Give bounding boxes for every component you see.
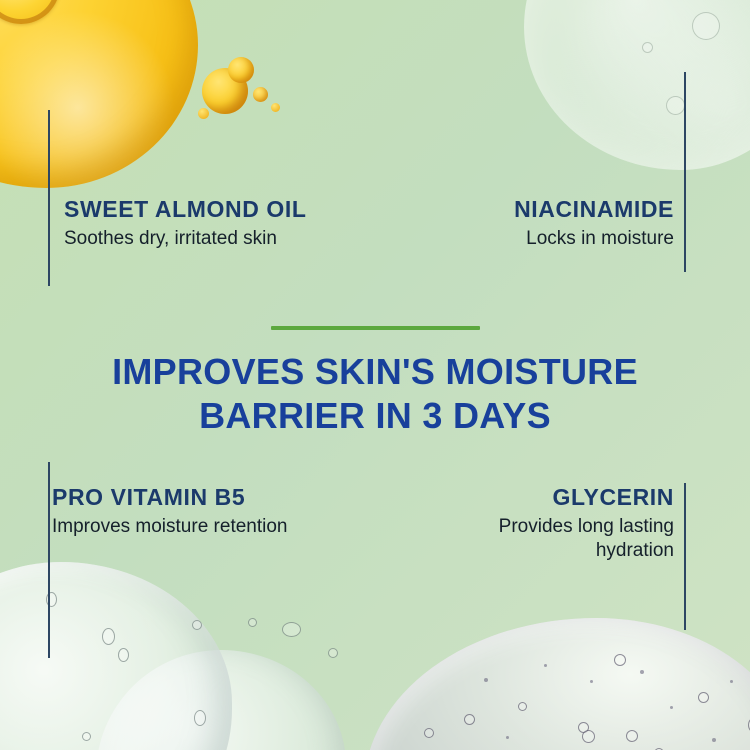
clear-gel-blob-secondary (96, 650, 346, 750)
oil-bubble (0, 0, 60, 24)
gel-bubble (518, 702, 527, 711)
gel-bubble (698, 692, 709, 703)
gel-bubble (424, 728, 434, 738)
ingredient-pro-vitamin-b5: PRO VITAMIN B5 Improves moisture retenti… (52, 484, 288, 539)
ingredient-description: Locks in moisture (514, 227, 674, 251)
main-headline: IMPROVES SKIN'S MOISTURE BARRIER IN 3 DA… (0, 350, 750, 438)
oil-satellite-droplet (202, 68, 248, 114)
serum-bubble (666, 96, 685, 115)
ingredient-title: NIACINAMIDE (514, 196, 674, 223)
connector-line-sweet-almond-oil (48, 110, 50, 286)
ingredient-title: GLYCERIN (454, 484, 674, 511)
connector-line-pro-vitamin-b5 (48, 462, 50, 658)
clear-gel-blob (0, 562, 232, 750)
gel-bubble (192, 620, 202, 630)
serum-bubble (642, 42, 653, 53)
ingredient-title: PRO VITAMIN B5 (52, 484, 288, 511)
lavender-gel-blob (364, 618, 750, 750)
gel-speck (670, 706, 673, 709)
gel-speck (506, 736, 509, 739)
gel-bubble (464, 714, 475, 725)
gel-speck (590, 680, 593, 683)
gel-speck (730, 680, 733, 683)
ingredient-niacinamide: NIACINAMIDE Locks in moisture (514, 196, 674, 251)
infographic-canvas: SWEET ALMOND OIL Soothes dry, irritated … (0, 0, 750, 750)
gel-bubble (248, 618, 257, 627)
gel-speck (712, 738, 716, 742)
yellow-oil-droplet (0, 0, 198, 188)
connector-line-glycerin (684, 483, 686, 630)
oil-satellite-droplet (271, 103, 280, 112)
ingredient-description: Soothes dry, irritated skin (64, 227, 307, 251)
gel-bubble (328, 648, 338, 658)
gel-bubble (118, 648, 129, 662)
ingredient-title: SWEET ALMOND OIL (64, 196, 307, 223)
headline-line-2: BARRIER IN 3 DAYS (0, 394, 750, 438)
oil-satellite-droplet (228, 57, 254, 83)
serum-bubble (692, 12, 720, 40)
ingredient-glycerin: GLYCERIN Provides long lasting hydration (454, 484, 674, 564)
gel-bubble (194, 710, 206, 726)
ingredient-description: Improves moisture retention (52, 515, 288, 539)
oil-satellite-droplet (198, 108, 209, 119)
ingredient-description: Provides long lasting hydration (454, 515, 674, 564)
gel-bubble (582, 730, 595, 743)
gel-speck (544, 664, 547, 667)
clear-serum-droplet (524, 0, 750, 170)
gel-speck (484, 678, 488, 682)
gel-bubble (614, 654, 626, 666)
gel-bubble (626, 730, 638, 742)
gel-speck (640, 670, 644, 674)
headline-line-1: IMPROVES SKIN'S MOISTURE (0, 350, 750, 394)
gel-bubble (282, 622, 301, 637)
headline-divider (271, 326, 480, 330)
gel-bubble (102, 628, 115, 645)
gel-bubble (578, 722, 589, 733)
connector-line-niacinamide (684, 72, 686, 272)
ingredient-sweet-almond-oil: SWEET ALMOND OIL Soothes dry, irritated … (64, 196, 307, 251)
gel-bubble (82, 732, 91, 741)
oil-satellite-droplet (253, 87, 268, 102)
